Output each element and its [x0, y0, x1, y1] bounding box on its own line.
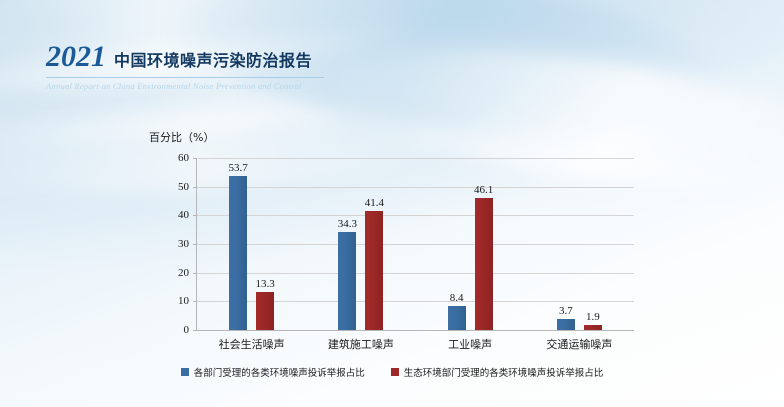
- x-axis-category-label: 社会生活噪声: [219, 336, 285, 352]
- x-axis-category-label: 建筑施工噪声: [328, 336, 394, 352]
- y-axis-tick-label: 60: [178, 152, 189, 164]
- bar-group: 34.341.4建筑施工噪声: [306, 158, 415, 330]
- x-axis-category-label: 工业噪声: [448, 336, 492, 352]
- bar[interactable]: 13.3: [256, 292, 274, 330]
- bar[interactable]: 53.7: [229, 176, 247, 330]
- bar-value-label: 3.7: [559, 305, 573, 317]
- bar-value-label: 53.7: [229, 162, 248, 174]
- bar[interactable]: 34.3: [338, 232, 356, 330]
- bar[interactable]: 3.7: [557, 319, 575, 330]
- bar[interactable]: 41.4: [365, 211, 383, 330]
- bar-value-label: 46.1: [474, 184, 493, 196]
- x-axis-category-label: 交通运输噪声: [546, 336, 612, 352]
- y-axis-tick-label: 30: [178, 238, 189, 250]
- chart-legend: 各部门受理的各类环境噪声投诉举报占比生态环境部门受理的各类环境噪声投诉举报占比: [0, 365, 784, 379]
- legend-swatch-icon: [181, 368, 189, 376]
- bar-value-label: 13.3: [256, 278, 275, 290]
- bar-value-label: 1.9: [586, 311, 600, 323]
- bar[interactable]: 46.1: [475, 198, 493, 330]
- y-axis-tick-label: 50: [178, 181, 189, 193]
- bar-group: 8.446.1工业噪声: [416, 158, 525, 330]
- y-axis-label: 百分比（%）: [149, 129, 214, 145]
- bar[interactable]: 1.9: [584, 325, 602, 330]
- y-axis-tick-label: 20: [178, 267, 189, 279]
- legend-item[interactable]: 各部门受理的各类环境噪声投诉举报占比: [181, 365, 365, 379]
- legend-label: 生态环境部门受理的各类环境噪声投诉举报占比: [404, 365, 604, 379]
- plot-area: 010203040506053.713.3社会生活噪声34.341.4建筑施工噪…: [196, 158, 634, 331]
- y-axis-tick: [193, 330, 197, 331]
- bar-value-label: 34.3: [338, 218, 357, 230]
- legend-swatch-icon: [391, 368, 399, 376]
- bar-chart: 百分比（%） 010203040506053.713.3社会生活噪声34.341…: [0, 0, 784, 407]
- y-axis-tick-label: 10: [178, 295, 189, 307]
- bar-value-label: 41.4: [365, 197, 384, 209]
- bar[interactable]: 8.4: [448, 306, 466, 330]
- legend-label: 各部门受理的各类环境噪声投诉举报占比: [194, 365, 365, 379]
- y-axis-tick-label: 40: [178, 209, 189, 221]
- slide-canvas: 2021 中国环境噪声污染防治报告 Annual Report on China…: [0, 0, 784, 407]
- bar-group: 3.71.9交通运输噪声: [525, 158, 634, 330]
- y-axis-tick-label: 0: [184, 324, 190, 336]
- bar-group: 53.713.3社会生活噪声: [197, 158, 306, 330]
- legend-item[interactable]: 生态环境部门受理的各类环境噪声投诉举报占比: [391, 365, 604, 379]
- bar-value-label: 8.4: [450, 292, 464, 304]
